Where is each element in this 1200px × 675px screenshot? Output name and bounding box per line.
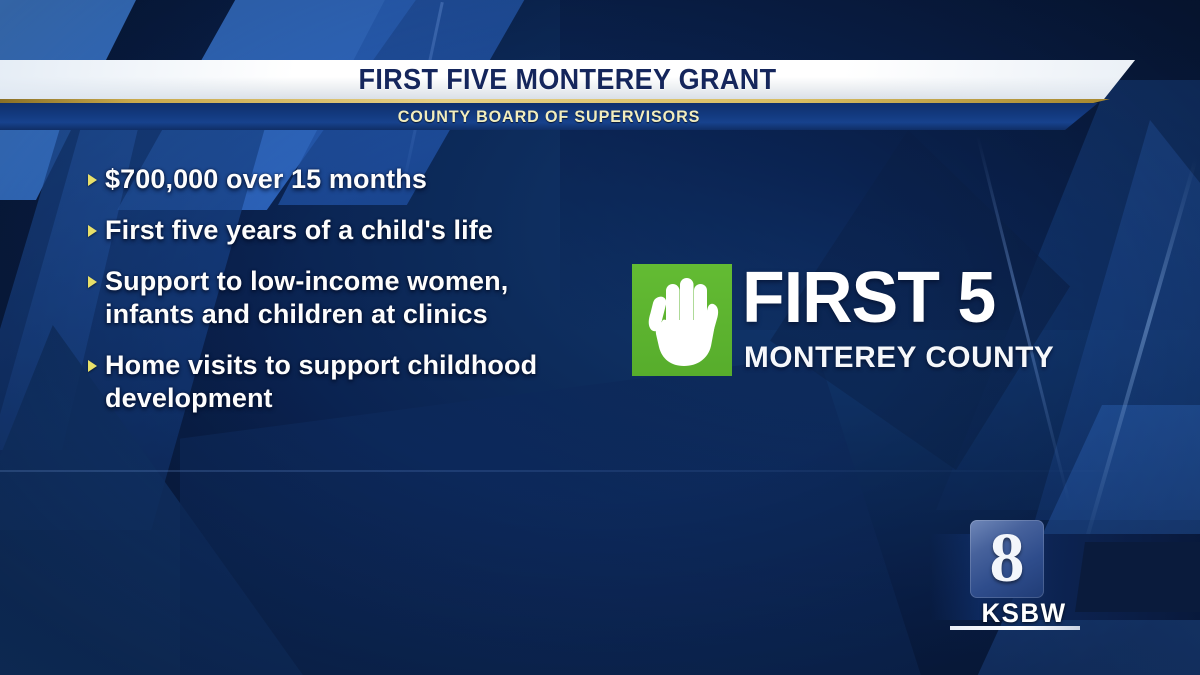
logo-tagline: MONTEREY COUNTY (744, 342, 1054, 374)
list-item: First five years of a child's life (88, 214, 558, 247)
logo-wordmark: FIRST 5 (742, 260, 995, 336)
list-item: $700,000 over 15 months (88, 163, 558, 196)
list-item-label: $700,000 over 15 months (105, 163, 427, 196)
header-banner: FIRST FIVE MONTEREY GRANT COUNTY BOARD O… (0, 0, 1200, 140)
triangle-bullet-icon (88, 360, 97, 372)
page-title: FIRST FIVE MONTEREY GRANT (40, 60, 1096, 100)
list-item-label: Support to low-income women, infants and… (105, 265, 558, 331)
triangle-bullet-icon (88, 276, 97, 288)
page-subtitle: COUNTY BOARD OF SUPERVISORS (27, 103, 1070, 130)
list-item: Support to low-income women, infants and… (88, 265, 558, 331)
triangle-bullet-icon (88, 174, 97, 186)
station-bug: 8 KSBW (930, 512, 1200, 640)
news-graphic-fullscreen: FIRST FIVE MONTEREY GRANT COUNTY BOARD O… (0, 0, 1200, 675)
list-item-label: First five years of a child's life (105, 214, 493, 247)
list-item-label: Home visits to support childhood develop… (105, 349, 558, 415)
bullet-list: $700,000 over 15 months First five years… (88, 163, 558, 433)
station-call-letters: KSBW (966, 598, 1081, 629)
list-item: Home visits to support childhood develop… (88, 349, 558, 415)
triangle-bullet-icon (88, 225, 97, 237)
channel-number: 8 (970, 520, 1044, 598)
first5-monterey-county-logo: FIRST 5 MONTEREY COUNTY (632, 264, 1082, 386)
open-hand-icon (640, 270, 724, 370)
station-bug-band-dark (1075, 542, 1200, 612)
station-bug-underline (950, 626, 1080, 630)
